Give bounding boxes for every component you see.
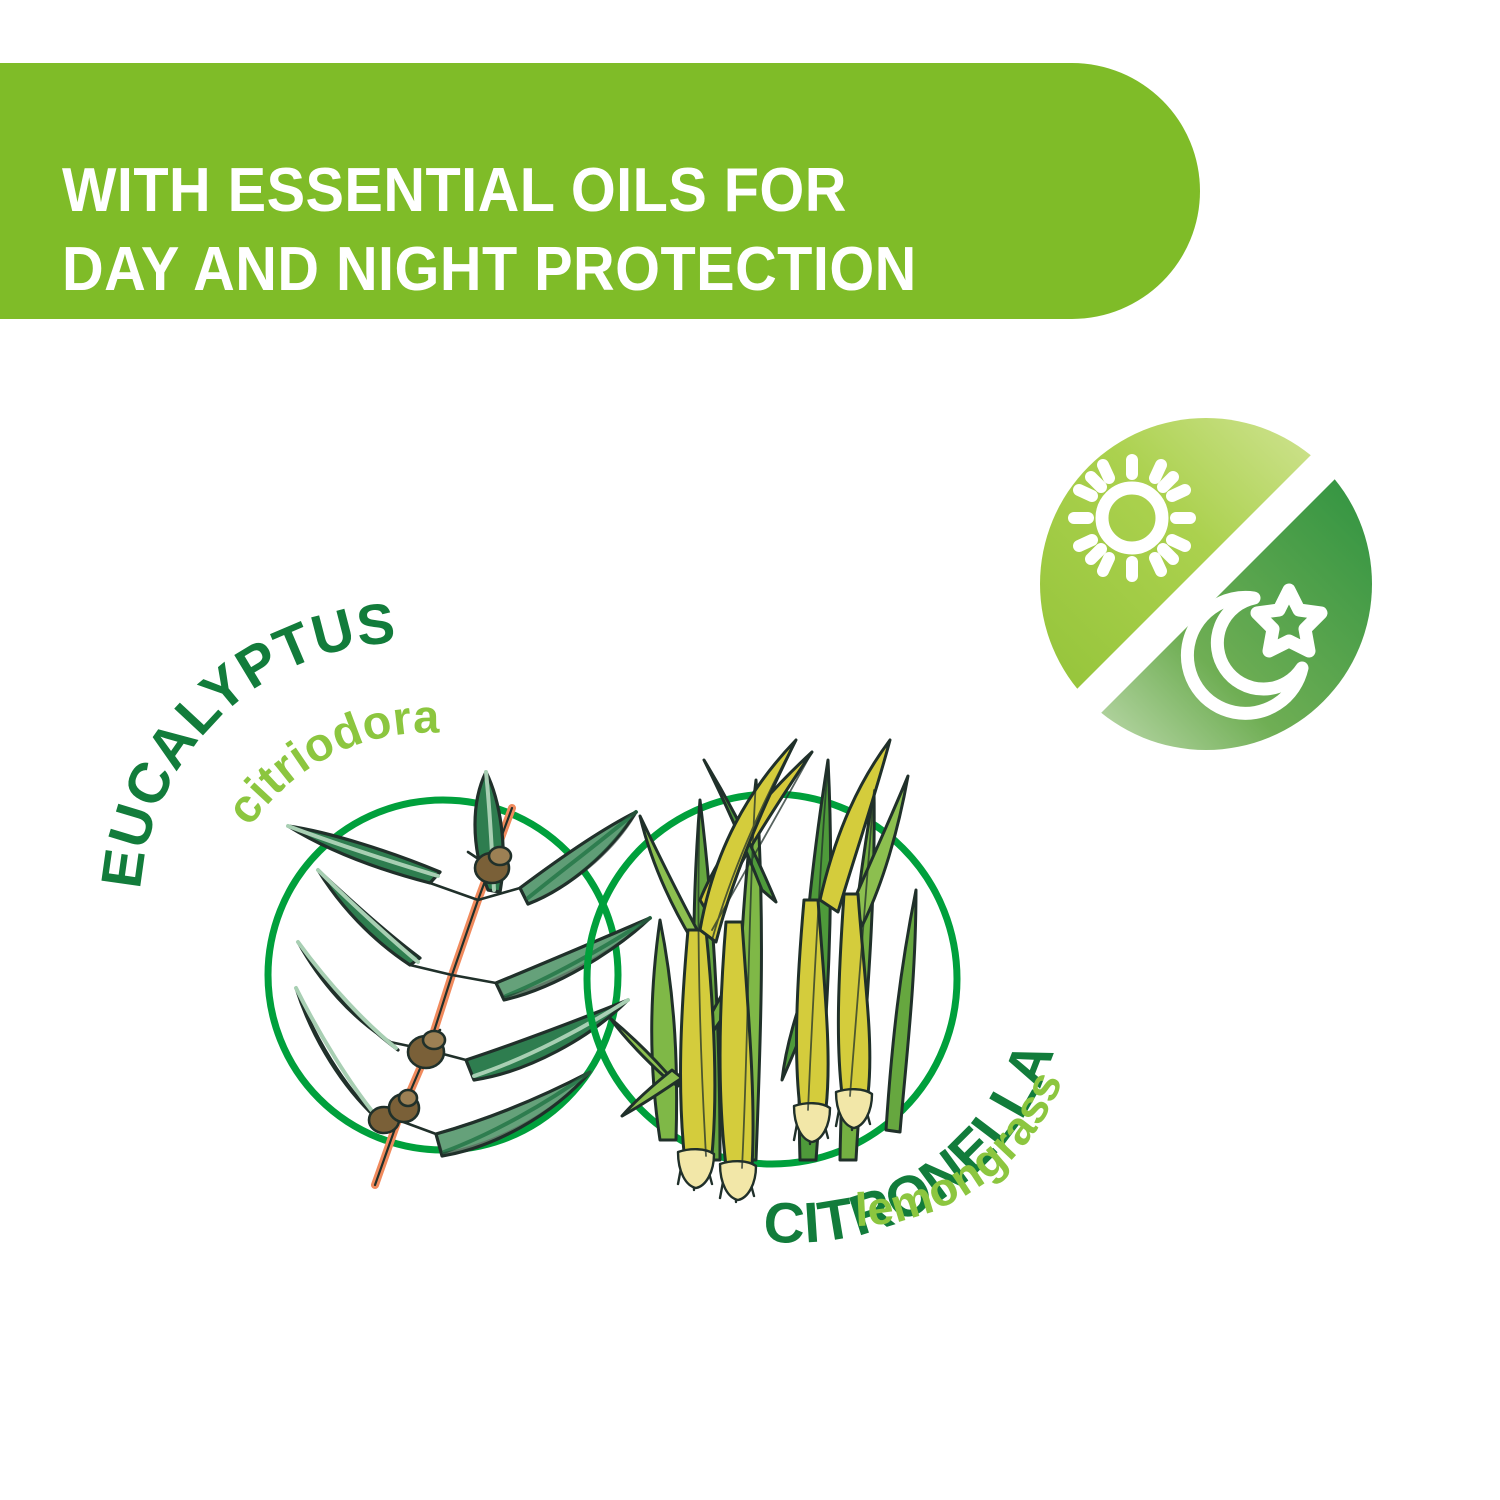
headline-banner: WITH ESSENTIAL OILS FOR DAY AND NIGHT PR… bbox=[0, 63, 1200, 319]
poster-canvas: WITH ESSENTIAL OILS FOR DAY AND NIGHT PR… bbox=[0, 0, 1500, 1500]
headline-text: WITH ESSENTIAL OILS FOR DAY AND NIGHT PR… bbox=[62, 151, 1048, 310]
eucalyptus-species-label: citriodora bbox=[215, 690, 440, 834]
citronella-species-label: lemongrass bbox=[854, 1063, 1073, 1236]
eucalyptus-emblem: EUCALYPTUS citriodora bbox=[89, 591, 650, 1185]
plant-emblems-group: EUCALYPTUS citriodora bbox=[0, 600, 1250, 1300]
headline-line-1: WITH ESSENTIAL OILS FOR bbox=[62, 151, 1048, 230]
citronella-emblem: CITRONELLA lemongrass bbox=[587, 740, 1072, 1256]
headline-line-2: DAY AND NIGHT PROTECTION bbox=[62, 230, 1048, 309]
